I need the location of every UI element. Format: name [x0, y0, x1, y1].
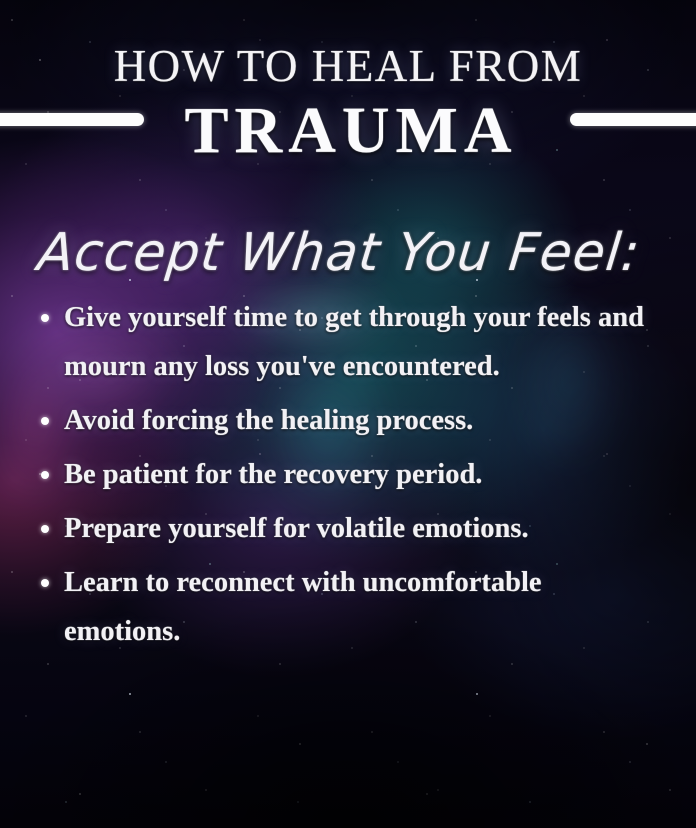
poster-body: Accept What You Feel: Give yourself time… [0, 169, 696, 656]
list-item: Prepare yourself for volatile emotions. [38, 504, 652, 553]
page-title-line-2: TRAUMA [179, 98, 518, 164]
decorative-rule-right [570, 113, 696, 126]
page-title-row: TRAUMA [0, 93, 696, 169]
section-heading: Accept What You Feel: [35, 227, 654, 279]
list-item-text: Learn to reconnect with uncomfortable em… [64, 567, 542, 647]
bullet-dot-icon [41, 314, 49, 322]
list-item-text: Give yourself time to get through your f… [64, 302, 644, 382]
bullet-dot-icon [41, 525, 49, 533]
bullet-dot-icon [41, 471, 49, 479]
list-item-text: Prepare yourself for volatile emotions. [64, 513, 529, 544]
page-title-line-1: HOW TO HEAL FROM [0, 44, 696, 89]
list-item: Learn to reconnect with uncomfortable em… [38, 558, 652, 656]
list-item-text: Avoid forcing the healing process. [64, 405, 473, 436]
list-item: Be patient for the recovery period. [38, 450, 652, 499]
poster-canvas: HOW TO HEAL FROM TRAUMA Accept What You … [0, 0, 696, 828]
poster-header: HOW TO HEAL FROM TRAUMA [0, 0, 696, 169]
list-item: Avoid forcing the healing process. [38, 396, 652, 445]
tips-list: Give yourself time to get through your f… [38, 293, 652, 656]
list-item: Give yourself time to get through your f… [38, 293, 652, 391]
list-item-text: Be patient for the recovery period. [64, 459, 482, 490]
bullet-dot-icon [41, 579, 49, 587]
bullet-dot-icon [41, 417, 49, 425]
decorative-rule-left [0, 113, 144, 126]
